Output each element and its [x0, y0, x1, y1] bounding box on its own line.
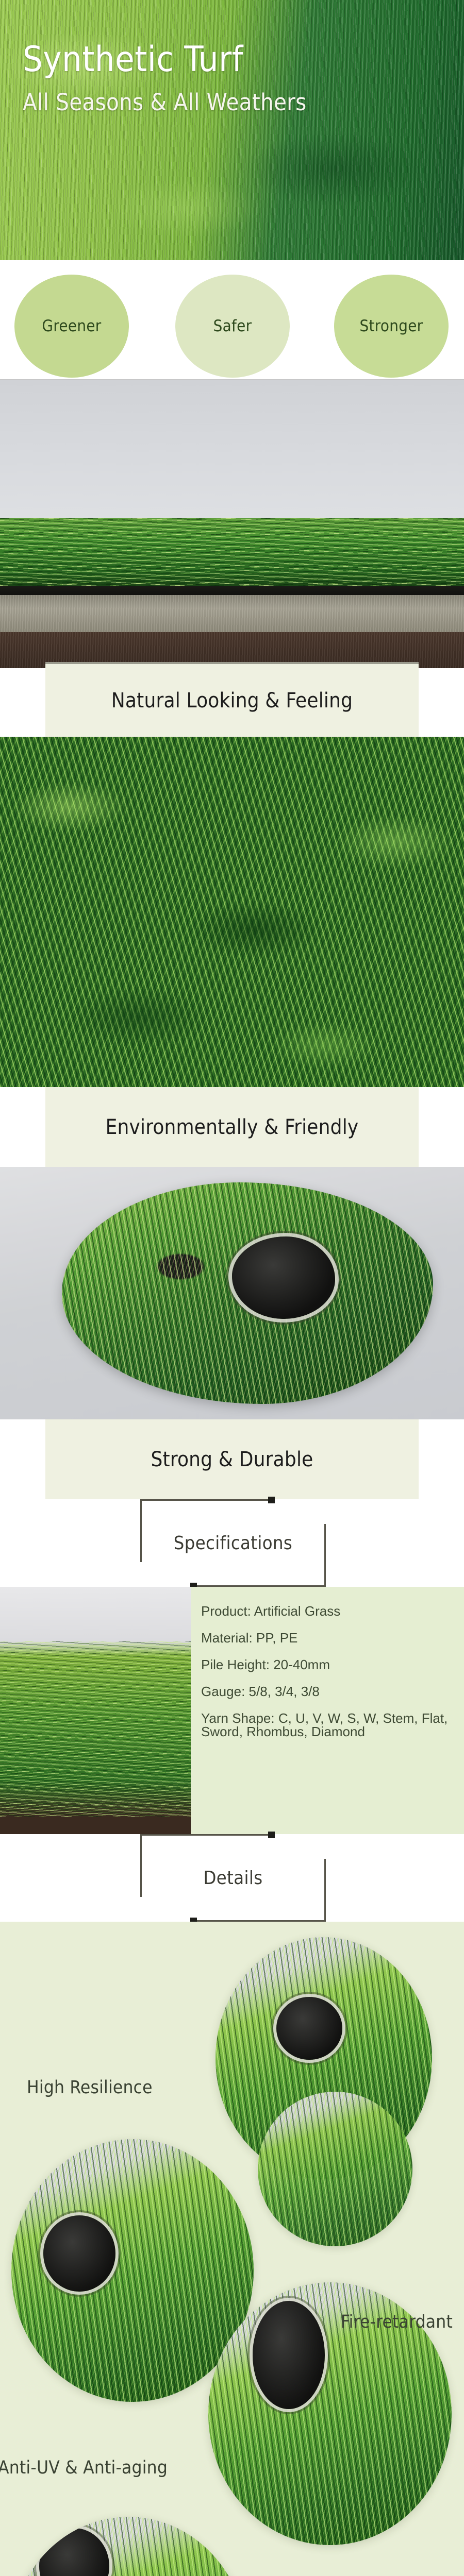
turf-roll-core-hole: [39, 2528, 109, 2576]
caption-environmentally-friendly: Environmentally & Friendly: [45, 1087, 419, 1167]
benefits-row: Greener Safer Stronger: [0, 260, 464, 380]
turf-roll-core-hole: [276, 1997, 342, 2060]
caption-label: Natural Looking & Feeling: [111, 689, 353, 713]
caption-label: Strong & Durable: [151, 1448, 313, 1471]
section-title: Specifications: [174, 1533, 292, 1554]
benefit-ellipse-stronger: Stronger: [334, 275, 449, 378]
artificial-grass-profile-photo: [0, 1587, 191, 1834]
hero-banner: Synthetic Turf All Seasons & All Weather…: [0, 0, 464, 260]
feature-label-anti-uv: Anti-UV & Anti-aging: [0, 2458, 168, 2479]
benefit-label: Greener: [42, 317, 101, 335]
section-header-details: Details: [0, 1834, 464, 1922]
spec-row-material: Material: PP, PE: [201, 1631, 456, 1645]
turf-dense-top-view-photo: [0, 737, 464, 1087]
specifications-list: Product: Artificial Grass Material: PP, …: [201, 1604, 456, 1745]
features-collage: High Resilience Fire-retardant Anti-UV &…: [0, 1922, 464, 2576]
feature-label-high-resilience: High Resilience: [27, 2077, 153, 2098]
caption-strong-durable: Strong & Durable: [45, 1419, 419, 1499]
photo-background-wall: [0, 380, 464, 534]
product-detail-page: Synthetic Turf All Seasons & All Weather…: [0, 0, 464, 2576]
spec-row-gauge: Gauge: 5/8, 3/4, 3/8: [201, 1685, 456, 1698]
turf-roll-core-hole: [253, 2301, 325, 2409]
hero-title: Synthetic Turf: [23, 42, 243, 77]
turf-roll-body: [62, 1182, 433, 1404]
turf-texture-layer-2: [0, 737, 464, 1087]
caption-label: Environmentally & Friendly: [106, 1115, 359, 1139]
spec-row-product: Product: Artificial Grass: [201, 1604, 456, 1618]
turf-roll-circle-4: [9, 2517, 247, 2576]
hero-subtitle: All Seasons & All Weathers: [23, 91, 307, 114]
section-title-wrapper: Details: [140, 1834, 326, 1922]
turf-side-profile-photo: [0, 380, 464, 668]
rolled-turf-photo: [0, 1167, 464, 1419]
photo-grass-blades: [0, 518, 464, 595]
spec-row-yarn-shape: Yarn Shape: C, U, V, W, S, W, Stem, Flat…: [201, 1711, 456, 1738]
section-title-wrapper: Specifications: [140, 1499, 326, 1587]
section-header-specifications: Specifications: [0, 1499, 464, 1587]
bracket-decoration: Specifications: [140, 1499, 326, 1587]
benefit-ellipse-safer: Safer: [175, 275, 290, 378]
benefit-label: Stronger: [360, 317, 423, 335]
turf-roll-core-hole: [232, 1236, 335, 1319]
section-title: Details: [203, 1868, 262, 1889]
turf-roll-circle-2b: [258, 2092, 412, 2246]
benefit-ellipse-greener: Greener: [14, 275, 129, 378]
bracket-decoration: Details: [140, 1834, 326, 1922]
specifications-panel: Product: Artificial Grass Material: PP, …: [0, 1587, 464, 1834]
feature-label-fire-retardant: Fire-retardant: [341, 2312, 453, 2333]
caption-natural-looking: Natural Looking & Feeling: [45, 662, 419, 737]
photo-floor-light: [0, 595, 464, 634]
benefit-label: Safer: [213, 317, 252, 335]
spec-row-pile-height: Pile Height: 20-40mm: [201, 1658, 456, 1671]
turf-roll-core-hole: [43, 2215, 115, 2292]
